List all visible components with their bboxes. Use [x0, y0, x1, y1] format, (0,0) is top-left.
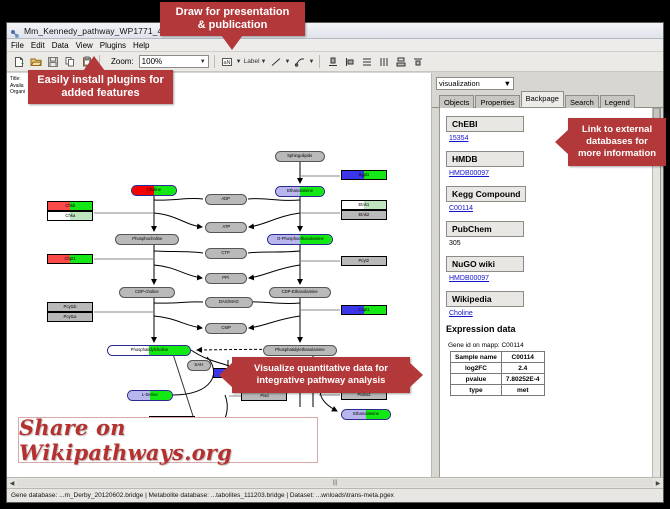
- node-label: ADP: [222, 197, 231, 201]
- scroll-grip-icon: |||: [333, 480, 338, 486]
- metabolite-node[interactable]: PPi: [205, 273, 247, 284]
- node-label: CDP-choline: [135, 290, 159, 294]
- metabolite-node[interactable]: CTP: [205, 248, 247, 259]
- table-row: log2FC2.4: [451, 363, 545, 374]
- interaction-dropdown[interactable]: ▼: [292, 54, 314, 69]
- zoom-value: 100%: [142, 57, 162, 66]
- menu-item-file[interactable]: File: [11, 41, 24, 50]
- database-link[interactable]: HMDB00097: [449, 275, 660, 282]
- annotation-draw-line1: Draw for presentation: [176, 6, 290, 19]
- backpage-content: ChEBI15354HMDBHMDB00097Kegg CompoundC001…: [439, 108, 661, 502]
- node-label: CMP: [221, 326, 230, 330]
- annotation-draw-arrow: [221, 35, 243, 50]
- scroll-track[interactable]: |||: [17, 479, 653, 487]
- metabolite-node[interactable]: Ethanolamine: [341, 409, 391, 420]
- database-header: NuGO wiki: [446, 256, 524, 272]
- chevron-down-icon-4: ▼: [284, 59, 290, 65]
- gene-node[interactable]: Pcyt1a: [47, 312, 93, 322]
- annotation-link-databases: Link to external databases for more info…: [568, 118, 666, 166]
- table-row: Sample nameC00114: [451, 352, 545, 363]
- gene-node[interactable]: Cept1: [341, 305, 387, 315]
- node-label: Phosphocholine: [132, 237, 162, 241]
- table-cell-value: 7.80252E-4: [501, 374, 544, 385]
- annotation-visualize-line2: integrative pathway analysis: [257, 375, 386, 387]
- gene-node[interactable]: Chka: [47, 211, 93, 221]
- zoom-label: Zoom:: [111, 57, 134, 66]
- node-label: Etnk1: [359, 203, 370, 207]
- table-cell-key: Sample name: [451, 352, 502, 363]
- node-label: Phosphatidylethanolamine: [275, 348, 325, 352]
- annotation-draw-line2: & publication: [198, 19, 268, 32]
- panel-scrollbar[interactable]: [652, 108, 660, 501]
- gene-node[interactable]: Pcyt1b: [47, 302, 93, 312]
- node-label: Cept1: [358, 308, 369, 312]
- database-header: Wikipedia: [446, 291, 524, 307]
- chevron-down-icon-6: ▼: [504, 79, 511, 88]
- node-label: DAG/MAG: [219, 300, 239, 304]
- node-label: Sgpl1: [359, 173, 370, 177]
- line-dropdown[interactable]: ▼: [268, 54, 290, 69]
- annotation-share-text: Share on Wikipathways.org: [19, 415, 317, 465]
- label-tool-label: Label: [244, 58, 260, 65]
- title-bar: Mm_Kennedy_pathway_WP1771_45176.gpml: [7, 23, 663, 39]
- node-label: Ethanolamine: [287, 189, 313, 193]
- metabolite-node[interactable]: Phosphocholine: [115, 234, 179, 245]
- node-label: ATP: [222, 225, 230, 229]
- metabolite-node[interactable]: CDP-choline: [119, 287, 175, 298]
- annotation-link-arrow: [555, 129, 569, 155]
- node-label: O-Phosphoethanolamine: [277, 237, 324, 241]
- metabolite-node[interactable]: Choline: [131, 185, 177, 196]
- status-text: Gene database: ...m_Derby_20120602.bridg…: [11, 492, 394, 499]
- metabolite-node[interactable]: DAG/MAG: [205, 297, 253, 308]
- menu-item-help[interactable]: Help: [133, 41, 149, 50]
- node-label: Pcyt1a: [64, 315, 77, 319]
- node-label: L-Serine: [142, 393, 158, 397]
- metabolite-node[interactable]: CMP: [205, 323, 247, 334]
- database-header: ChEBI: [446, 116, 524, 132]
- copy-icon[interactable]: [62, 54, 77, 69]
- menu-item-edit[interactable]: Edit: [31, 41, 45, 50]
- datanode-dropdown[interactable]: aN ▼: [220, 54, 242, 69]
- metabolite-node[interactable]: O-Phosphoethanolamine: [267, 234, 333, 245]
- node-label: CTP: [222, 251, 230, 255]
- metabolite-node[interactable]: ADP: [205, 194, 247, 205]
- tool-bar: Zoom: 100% ▼ aN ▼ Label ▼ ▼: [7, 52, 663, 72]
- annotation-visualize: Visualize quantitative data for integrat…: [232, 357, 410, 393]
- stack-icon[interactable]: [410, 54, 425, 69]
- gene-node[interactable]: Chkb: [47, 201, 93, 211]
- menu-item-view[interactable]: View: [76, 41, 93, 50]
- annotation-plugins-line1: Easily install plugins for: [37, 74, 164, 87]
- gene-node[interactable]: Pcyt2: [341, 256, 387, 266]
- chevron-down-icon: ▼: [200, 59, 206, 65]
- database-link[interactable]: C00114: [449, 205, 660, 212]
- metabolite-node[interactable]: Phosphatidylcholine: [107, 345, 191, 356]
- node-label: SAH: [195, 363, 204, 367]
- node-label: Chpt1: [64, 257, 75, 261]
- annotation-link-line3: more information: [578, 148, 656, 160]
- table-row: typemet: [451, 385, 545, 396]
- node-label: Chka: [65, 214, 75, 218]
- screenshot-root: Mm_Kennedy_pathway_WP1771_45176.gpml Fil…: [0, 0, 670, 509]
- gene-node[interactable]: Etnk2: [341, 210, 387, 220]
- metabolite-node[interactable]: Phosphatidylethanolamine: [263, 345, 337, 356]
- annotation-draw: Draw for presentation & publication: [160, 2, 305, 36]
- table-cell-value: 2.4: [501, 363, 544, 374]
- toolbar-separator-3: [319, 55, 320, 68]
- gene-node[interactable]: Chpt1: [47, 254, 93, 264]
- node-label: Pisd: [260, 394, 268, 398]
- expression-table: Sample nameC00114log2FC2.4pvalue7.80252E…: [450, 351, 545, 396]
- tab-search[interactable]: Search: [565, 95, 599, 108]
- node-label: Choline: [147, 188, 161, 192]
- visualization-combo[interactable]: visualization ▼: [436, 77, 514, 90]
- annotation-visualize-arrow-right: [409, 362, 423, 388]
- gene-node[interactable]: Sgpl1: [341, 170, 387, 180]
- expression-data-heading: Expression data: [446, 324, 660, 334]
- line-icon[interactable]: [268, 54, 283, 69]
- table-cell-key: pvalue: [451, 374, 502, 385]
- table-cell-value: met: [501, 385, 544, 396]
- gene-id-on-mapp: Gene id on mapp: C00114: [448, 342, 660, 349]
- svg-text:aN: aN: [224, 60, 231, 66]
- zoom-combo[interactable]: 100% ▼: [139, 55, 209, 68]
- metabolite-node[interactable]: Sphingolipids: [275, 151, 325, 162]
- node-label: Pcyt1b: [64, 305, 77, 309]
- table-row: pvalue7.80252E-4: [451, 374, 545, 385]
- tab-legend[interactable]: Legend: [600, 95, 635, 108]
- annotation-visualize-arrow-left: [219, 362, 233, 388]
- gene-node[interactable]: Etnk1: [341, 200, 387, 210]
- metabolite-node[interactable]: L-Serine: [127, 390, 173, 401]
- annotation-link-line1: Link to external: [582, 124, 652, 136]
- database-header: HMDB: [446, 151, 524, 167]
- tab-backpage[interactable]: Backpage: [521, 91, 564, 107]
- chevron-down-icon-5: ▼: [308, 59, 314, 65]
- metabolite-node[interactable]: ATP: [205, 222, 247, 233]
- distribute-vertical-icon[interactable]: [359, 54, 374, 69]
- distribute-horizontal-icon[interactable]: [376, 54, 391, 69]
- align-top-icon[interactable]: [325, 54, 340, 69]
- horizontal-scrollbar[interactable]: ◀ ||| ▶: [7, 477, 663, 488]
- scroll-left-icon[interactable]: ◀: [7, 478, 17, 488]
- node-label: Ethanolamine: [353, 412, 379, 416]
- scroll-right-icon[interactable]: ▶: [653, 478, 663, 488]
- table-cell-key: log2FC: [451, 363, 502, 374]
- annotation-link-line2: databases for: [586, 136, 648, 148]
- database-header: PubChem: [446, 221, 524, 237]
- node-label: Ptdss2: [358, 393, 371, 397]
- database-link[interactable]: Choline: [449, 310, 660, 317]
- datanode-icon[interactable]: aN: [220, 54, 235, 69]
- node-label: Sphingolipids: [287, 154, 312, 158]
- database-value: 305: [449, 240, 660, 247]
- node-label: Pcyt2: [359, 259, 370, 263]
- annotation-plugins-arrow: [83, 56, 105, 71]
- menu-bar: File Edit Data View Plugins Help: [7, 39, 663, 52]
- metabolite-node[interactable]: Ethanolamine: [275, 186, 325, 197]
- toolbar-separator-2: [214, 55, 215, 68]
- chevron-down-icon-2: ▼: [236, 59, 242, 65]
- node-label: Phosphatidylcholine: [130, 348, 168, 352]
- common-width-icon[interactable]: [393, 54, 408, 69]
- node-label: PPi: [223, 276, 230, 280]
- visualization-value: visualization: [439, 79, 480, 88]
- annotation-share: Share on Wikipathways.org: [18, 417, 318, 463]
- metabolite-node[interactable]: SAH: [187, 360, 211, 371]
- database-link[interactable]: HMDB00097: [449, 170, 660, 177]
- node-label: Etnk2: [359, 213, 370, 217]
- menu-item-data[interactable]: Data: [52, 41, 69, 50]
- status-bar: Gene database: ...m_Derby_20120602.bridg…: [7, 488, 663, 502]
- new-file-icon[interactable]: [11, 54, 26, 69]
- side-panel-tabs: Objects Properties Backpage Search Legen…: [432, 93, 663, 108]
- tab-properties[interactable]: Properties: [475, 95, 519, 108]
- align-left-icon[interactable]: [342, 54, 357, 69]
- annotation-visualize-line1: Visualize quantitative data for: [254, 363, 388, 375]
- interaction-icon[interactable]: [292, 54, 307, 69]
- menu-item-plugins[interactable]: Plugins: [100, 41, 126, 50]
- app-icon: [10, 26, 20, 36]
- open-folder-icon[interactable]: [28, 54, 43, 69]
- metabolite-node[interactable]: CDP-Ethanolamine: [269, 287, 331, 298]
- label-dropdown[interactable]: Label ▼: [244, 58, 267, 65]
- node-label: Chkb: [65, 204, 75, 208]
- annotation-plugins-line2: added features: [61, 87, 139, 100]
- tab-objects[interactable]: Objects: [439, 95, 474, 108]
- table-cell-value: C00114: [501, 352, 544, 363]
- chevron-down-icon-3: ▼: [261, 59, 267, 65]
- node-label: CDP-Ethanolamine: [282, 290, 318, 294]
- table-cell-key: type: [451, 385, 502, 396]
- database-header: Kegg Compound: [446, 186, 526, 202]
- annotation-plugins: Easily install plugins for added feature…: [28, 70, 173, 104]
- save-icon[interactable]: [45, 54, 60, 69]
